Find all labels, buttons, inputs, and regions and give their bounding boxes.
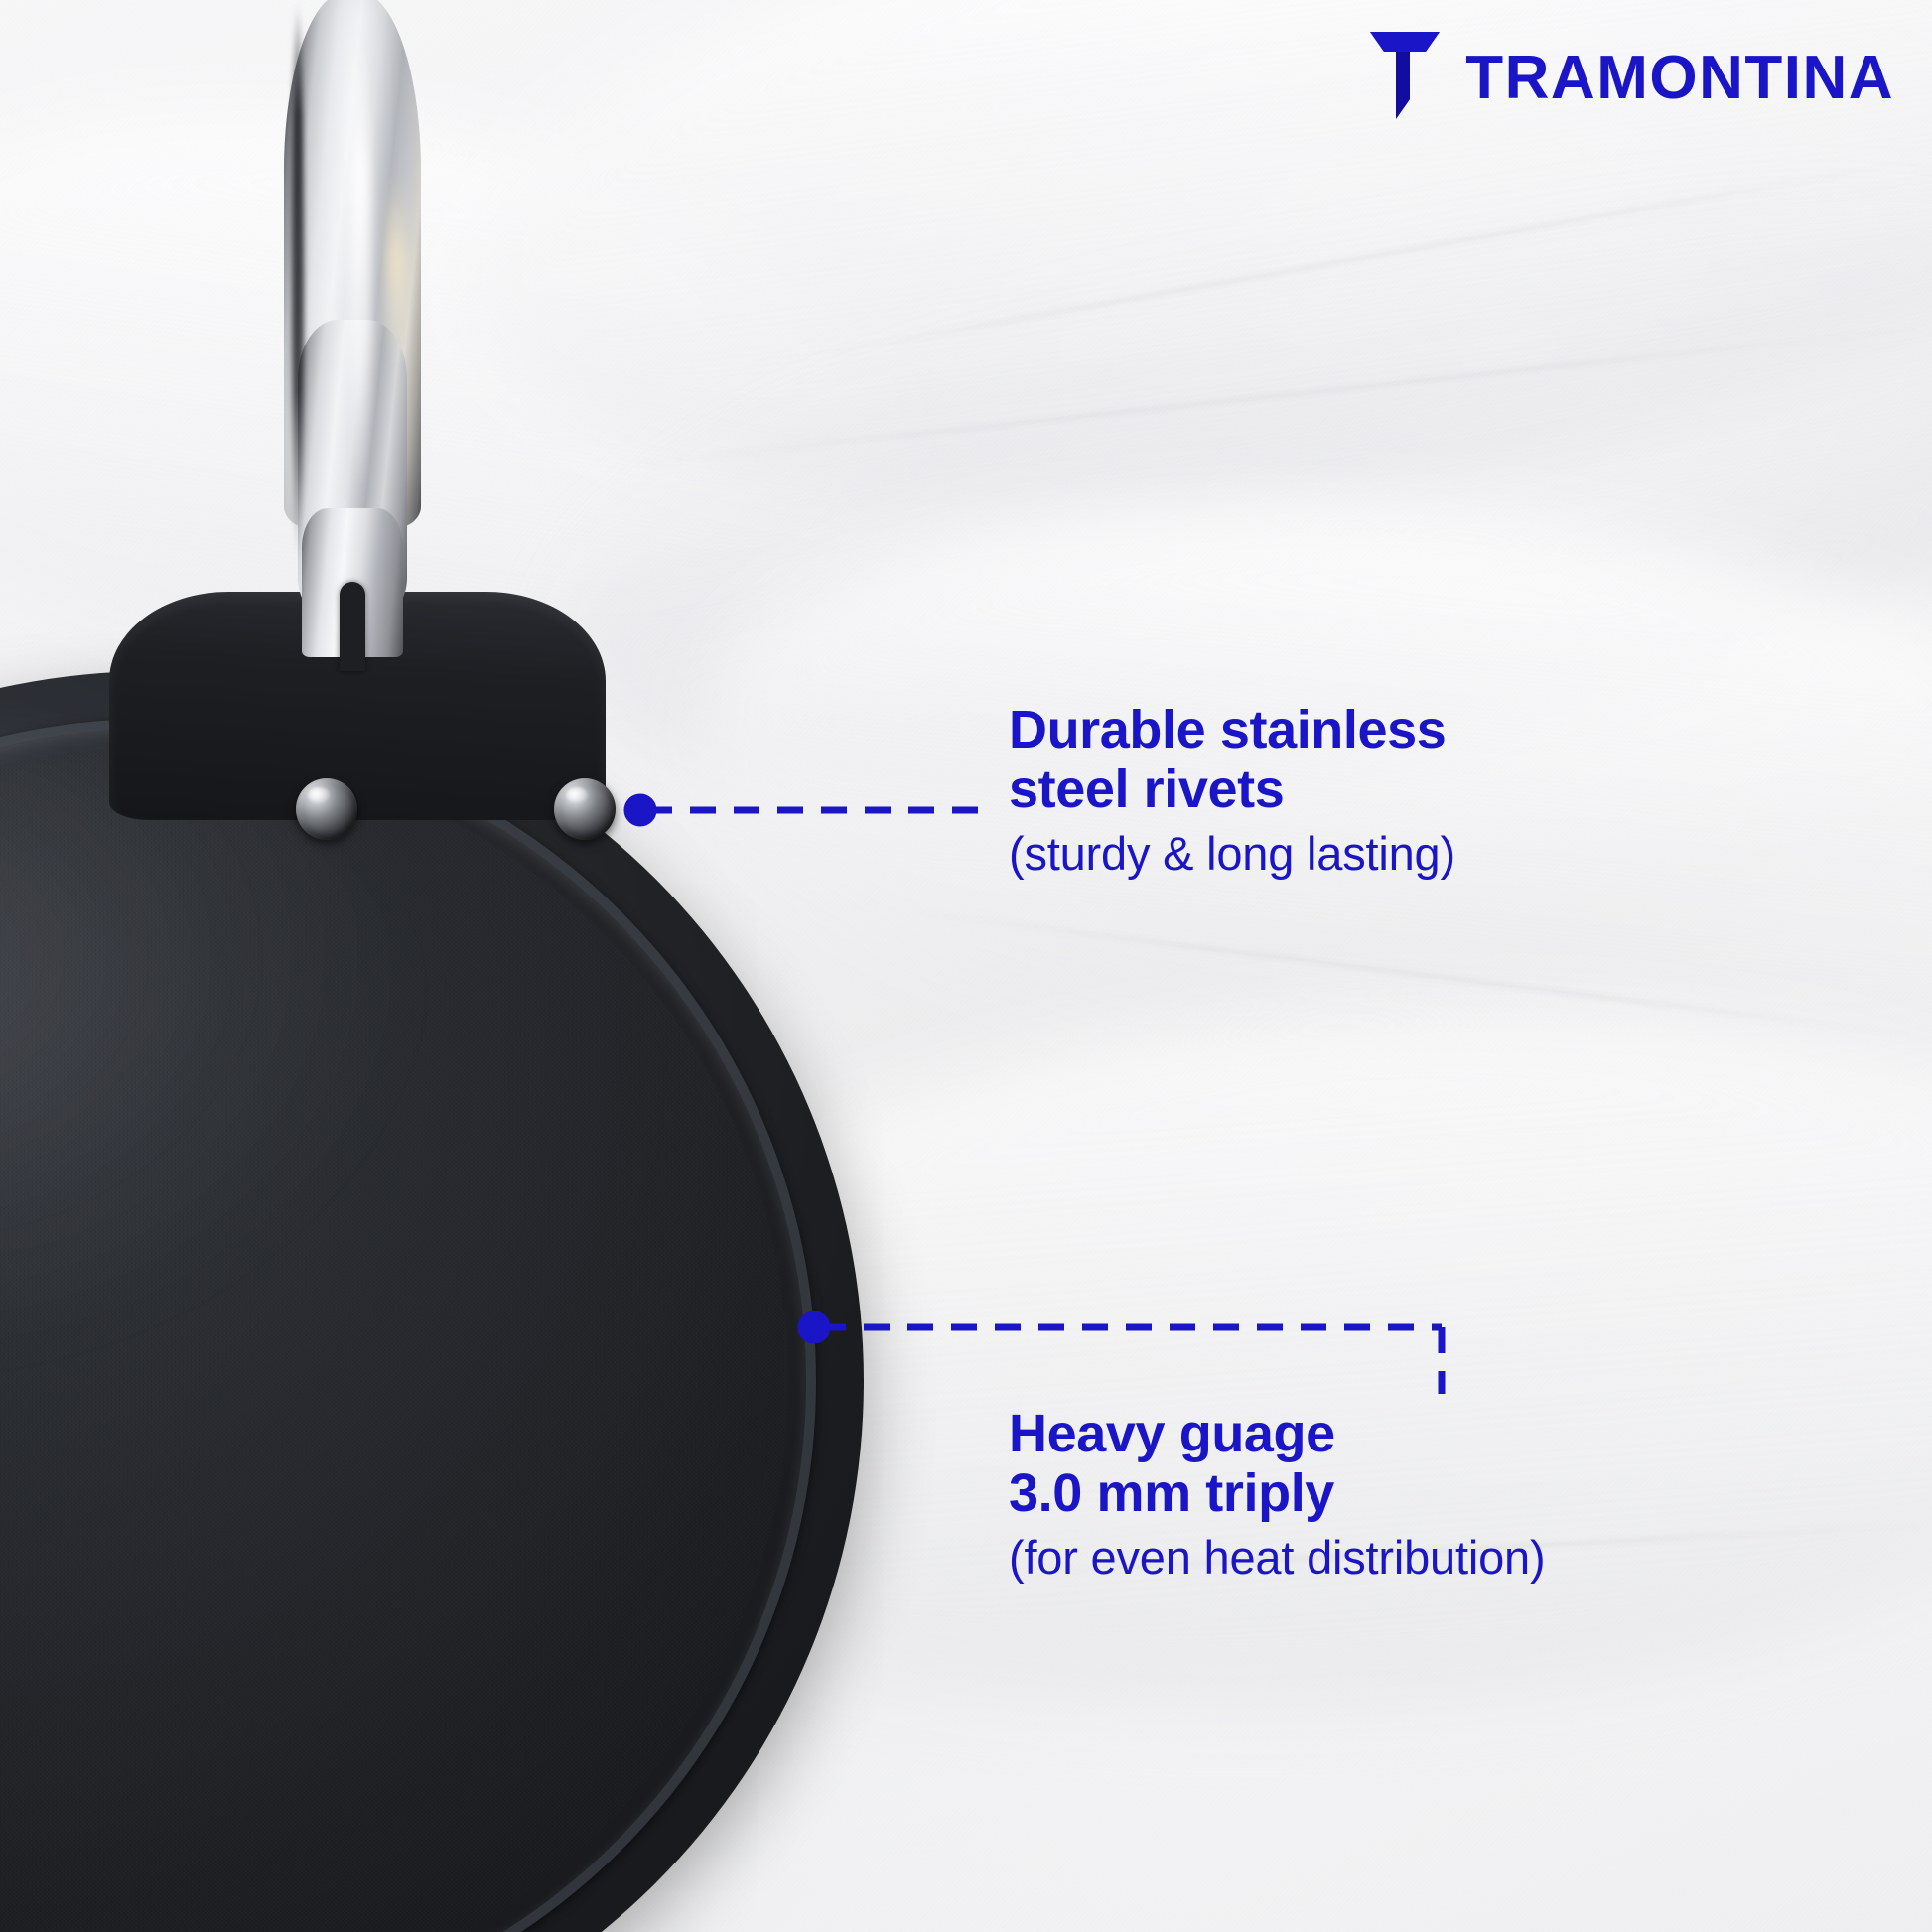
tramontina-t-icon (1366, 30, 1444, 126)
handle-highlight (349, 32, 371, 498)
product-image-pan (0, 0, 953, 1932)
background-fold-line (897, 909, 1932, 1038)
callout-gauge-subtitle: (for even heat distribution) (1009, 1530, 1545, 1585)
callout-rivets-subtitle: (sturdy & long lasting) (1009, 826, 1455, 881)
callout-rivets: Durable stainless steel rivets (sturdy &… (1009, 700, 1455, 881)
callout-rivets-title: Durable stainless steel rivets (1009, 700, 1455, 820)
handle-warm-highlight (387, 171, 405, 369)
callout-gauge: Heavy guage 3.0 mm triply (for even heat… (1009, 1404, 1545, 1585)
handle-fork (302, 508, 403, 657)
rivet-right (554, 778, 616, 840)
rivet-left (296, 778, 357, 840)
brand-wordmark: TRAMONTINA (1465, 48, 1894, 109)
brand-logo: TRAMONTINA (1366, 30, 1894, 126)
product-feature-graphic: TRAMONTINA (0, 0, 1932, 1932)
handle-shadow-edge (292, 2, 304, 558)
pan-body (0, 671, 864, 1932)
pan-handle (284, 0, 421, 647)
callout-gauge-title: Heavy guage 3.0 mm triply (1009, 1404, 1545, 1524)
